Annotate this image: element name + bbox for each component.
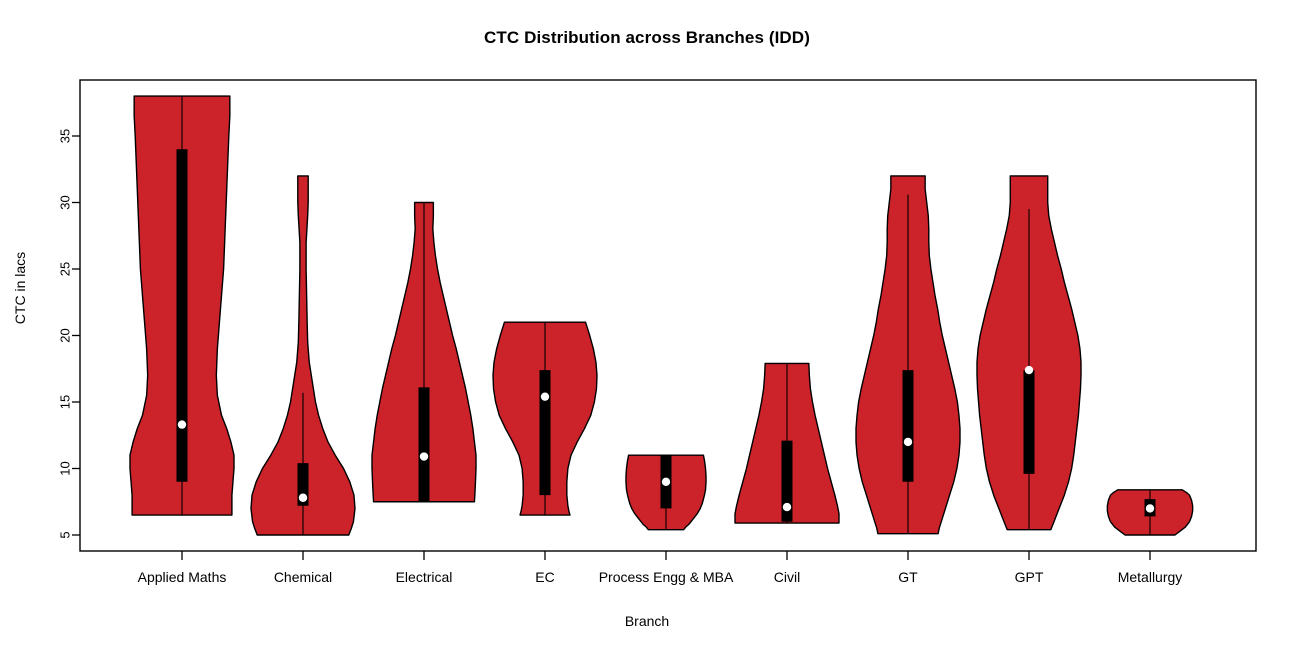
median-marker bbox=[1025, 366, 1033, 374]
x-axis-tick-label-electrical: Electrical bbox=[396, 569, 453, 585]
x-axis-tick-label-gpt: GPT bbox=[1015, 569, 1044, 585]
x-axis-tick-label-applied-maths: Applied Maths bbox=[138, 569, 227, 585]
median-marker bbox=[1146, 504, 1154, 512]
x-axis-tick-label-civil: Civil bbox=[774, 569, 800, 585]
x-axis-tick-label-metallurgy: Metallurgy bbox=[1118, 569, 1183, 585]
y-axis-tick-label: 20 bbox=[57, 328, 72, 342]
median-marker bbox=[299, 494, 307, 502]
x-axis-tick-label-ec: EC bbox=[535, 569, 554, 585]
y-axis-tick-label: 35 bbox=[57, 129, 72, 143]
x-axis-tick-label-chemical: Chemical bbox=[274, 569, 332, 585]
median-marker bbox=[541, 392, 549, 400]
y-axis-tick-label: 10 bbox=[57, 461, 72, 475]
violin-chart: CTC Distribution across Branches (IDD) C… bbox=[0, 0, 1294, 653]
median-marker bbox=[662, 478, 670, 486]
x-axis-tick-label-gt: GT bbox=[898, 569, 918, 585]
y-axis-tick-label: 5 bbox=[57, 531, 72, 538]
median-marker bbox=[783, 503, 791, 511]
x-axis-tick-label-process-engg-mba: Process Engg & MBA bbox=[599, 569, 734, 585]
y-axis-tick-label: 30 bbox=[57, 195, 72, 209]
violin-series-group bbox=[130, 96, 1193, 535]
y-axis-tick-label: 15 bbox=[57, 395, 72, 409]
median-marker bbox=[420, 452, 428, 460]
median-marker bbox=[178, 420, 186, 428]
plot-canvas: 5101520253035Applied MathsChemicalElectr… bbox=[0, 0, 1294, 653]
median-marker bbox=[904, 438, 912, 446]
y-axis-tick-label: 25 bbox=[57, 262, 72, 276]
